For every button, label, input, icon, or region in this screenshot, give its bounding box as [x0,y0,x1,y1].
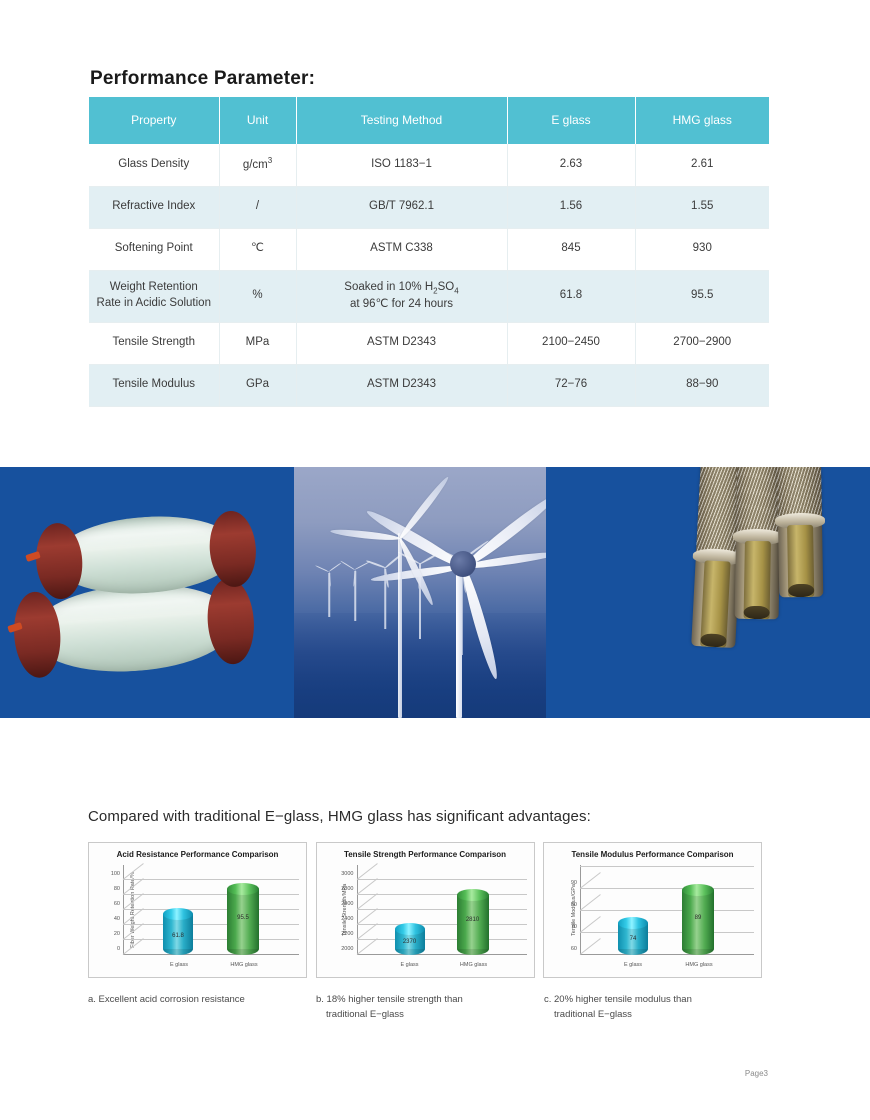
x-axis-line [357,954,527,955]
cell-method: ASTM C338 [296,228,507,270]
bar-e-glass: 74 [618,917,648,955]
background-wind-turbine [368,543,402,629]
subscript-2: 2 [433,286,437,295]
caption-line-2: traditional E−glass [316,1008,544,1023]
y-tick-label: 60 [571,946,577,952]
cell-property: Weight Retention Rate in Acidic Solution [89,270,219,322]
table-header-row: Property Unit Testing Method E glass HMG… [89,97,769,144]
grid-depth-line [123,938,144,955]
bar-e-glass: 2370 [395,923,425,955]
cell-e-glass: 72−76 [507,364,635,406]
bar-value-label: 74 [630,936,637,942]
bar-value-label: 2810 [466,917,479,923]
y-tick-label: 2400 [341,916,353,922]
gridline [123,894,299,895]
cell-method: GB/T 7962.1 [296,186,507,228]
table-row: Weight Retention Rate in Acidic Solution… [89,270,769,322]
cell-unit: g/cm3 [219,144,296,186]
grid-depth-line [356,923,377,940]
chart-acid-resistance: Acid Resistance Performance Comparison F… [88,842,307,978]
gridline [123,909,299,910]
vessel-end-cap-right [205,577,257,666]
method-line-2: at 96℃ for 24 hours [350,298,453,310]
property-line-1: Weight Retention [110,281,198,293]
grid-depth-line [123,878,144,895]
column-header-hmg-glass: HMG glass [635,97,769,144]
y-tick-label: 100 [111,871,120,877]
cell-property: Glass Density [89,144,219,186]
y-tick-label: 2000 [341,946,353,952]
cell-method: ASTM D2343 [296,364,507,406]
grid-depth-line [123,923,144,940]
cell-property: Tensile Strength [89,322,219,364]
grid-depth-line [123,893,144,910]
conductor-cable [777,467,824,597]
foreground-turbine-tower [456,559,462,718]
chart-plot-area: 60 70 80 90 74 89 E glass HMG glass [580,865,754,955]
chart-tensile-modulus: Tensile Modulus Performance Comparison T… [543,842,762,978]
gridline [123,879,299,880]
performance-parameter-table: Property Unit Testing Method E glass HMG… [89,97,769,407]
cell-hmg-glass: 88−90 [635,364,769,406]
grid-depth-line [356,908,377,925]
gridline [357,909,527,910]
bar-e-glass: 61.8 [163,908,193,955]
photo-accc-conductor-cables [632,467,870,718]
column-header-property: Property [89,97,219,144]
x-tick-label: HMG glass [460,962,487,968]
x-axis-line [580,954,754,955]
cell-method: Soaked in 10% H2SO4 at 96℃ for 24 hours [296,270,507,322]
cell-hmg-glass: 2.61 [635,144,769,186]
vessel-end-cap-right [207,509,258,588]
caption-c: c. 20% higher tensile modulus than tradi… [544,993,774,1022]
cell-e-glass: 61.8 [507,270,635,322]
bar-value-label: 89 [695,915,702,921]
photo-composite-pressure-vessels [0,467,294,718]
gridline [357,879,527,880]
grid-depth-line [356,863,377,880]
chart-plot-area: 0 20 40 60 80 100 61.8 95.5 E glass HMG … [123,865,299,955]
gridline [123,924,299,925]
y-tick-label: 2200 [341,931,353,937]
x-tick-label: E glass [624,962,642,968]
y-tick-label: 70 [571,924,577,930]
cell-hmg-glass: 2700−2900 [635,322,769,364]
property-line-2: Rate in Acidic Solution [97,297,211,309]
chart-plot-area: 2000 2200 2400 2600 2800 3000 2370 2810 … [357,865,527,955]
foreground-turbine-tower [398,533,402,718]
grid-depth-line [356,878,377,895]
cell-unit: / [219,186,296,228]
subscript-4: 4 [454,286,458,295]
cell-unit: % [219,270,296,322]
gridline [580,888,754,889]
grid-depth-line [123,908,144,925]
y-tick-label: 2800 [341,886,353,892]
chart-tensile-strength: Tensile Strength Performance Comparison … [316,842,535,978]
x-tick-label: E glass [170,962,188,968]
background-wind-turbine [316,553,342,617]
background-wind-turbine [340,549,370,621]
cell-unit: ℃ [219,228,296,270]
grid-depth-line [356,893,377,910]
column-header-e-glass: E glass [507,97,635,144]
caption-line-1: b. 18% higher tensile strength than [316,994,463,1005]
bar-value-label: 95.5 [237,915,249,921]
table-row: Glass Density g/cm3 ISO 1183−1 2.63 2.61 [89,144,769,186]
caption-a: a. Excellent acid corrosion resistance [88,993,316,1022]
y-tick-label: 90 [571,880,577,886]
gridline [357,939,527,940]
cell-hmg-glass: 1.55 [635,186,769,228]
bar-hmg-glass: 2810 [457,889,489,955]
application-photo-band [0,467,870,718]
page-title: Performance Parameter: [90,68,315,90]
x-tick-label: E glass [400,962,418,968]
turbine-hub [450,551,476,577]
x-tick-label: HMG glass [230,962,257,968]
gridline [580,910,754,911]
chart-captions: a. Excellent acid corrosion resistance b… [88,993,778,1022]
grid-depth-line [356,938,377,955]
table-row: Tensile Modulus GPa ASTM D2343 72−76 88−… [89,364,769,406]
y-tick-label: 2600 [341,901,353,907]
cell-e-glass: 1.56 [507,186,635,228]
method-line-1: Soaked in 10% H2SO4 [344,281,458,293]
column-header-testing-method: Testing Method [296,97,507,144]
cell-unit: MPa [219,322,296,364]
cell-method: ASTM D2343 [296,322,507,364]
y-tick-label: 40 [114,916,120,922]
y-tick-label: 60 [114,901,120,907]
bar-value-label: 2370 [403,939,416,945]
chart-title: Tensile Modulus Performance Comparison [544,850,761,859]
caption-b: b. 18% higher tensile strength than trad… [316,993,544,1022]
cell-hmg-glass: 95.5 [635,270,769,322]
cell-e-glass: 2100−2450 [507,322,635,364]
caption-line-1: a. Excellent acid corrosion resistance [88,994,245,1005]
comparison-charts-row: Acid Resistance Performance Comparison F… [88,842,762,978]
gridline [580,866,754,867]
cell-unit: GPa [219,364,296,406]
cell-e-glass: 845 [507,228,635,270]
unit-superscript: 3 [268,156,272,165]
photo-offshore-wind-farm [294,467,546,718]
pressure-vessel-upper [54,511,239,599]
caption-line-1: c. 20% higher tensile modulus than [544,994,692,1005]
gridline [580,932,754,933]
chart-title: Acid Resistance Performance Comparison [89,850,306,859]
y-tick-label: 80 [571,902,577,908]
conductor-cable [735,467,782,619]
gridline [123,939,299,940]
cell-property: Refractive Index [89,186,219,228]
bar-hmg-glass: 89 [682,884,714,955]
column-header-unit: Unit [219,97,296,144]
x-tick-label: HMG glass [685,962,712,968]
vessel-end-cap-left [34,522,85,601]
x-axis-line [123,954,299,955]
cell-hmg-glass: 930 [635,228,769,270]
grid-depth-line [580,916,601,933]
gridline [357,894,527,895]
vessel-end-cap-left [11,590,63,679]
chart-title: Tensile Strength Performance Comparison [317,850,534,859]
cell-method: ISO 1183−1 [296,144,507,186]
y-tick-label: 80 [114,886,120,892]
grid-depth-line [580,894,601,911]
gridline [357,924,527,925]
grid-depth-line [580,938,601,955]
y-tick-label: 3000 [341,871,353,877]
caption-line-2: traditional E−glass [544,1008,774,1023]
table-row: Tensile Strength MPa ASTM D2343 2100−245… [89,322,769,364]
cell-property: Softening Point [89,228,219,270]
table-row: Softening Point ℃ ASTM C338 845 930 [89,228,769,270]
bar-hmg-glass: 95.5 [227,883,259,955]
y-tick-label: 0 [117,946,120,952]
advantages-heading: Compared with traditional E−glass, HMG g… [88,808,591,825]
bar-value-label: 61.8 [172,933,184,939]
grid-depth-line [580,872,601,889]
grid-depth-line [123,863,144,880]
y-tick-label: 20 [114,931,120,937]
page-number: Page3 [745,1069,768,1078]
cell-e-glass: 2.63 [507,144,635,186]
unit-base: g/cm [243,159,268,171]
cell-property: Tensile Modulus [89,364,219,406]
table-row: Refractive Index / GB/T 7962.1 1.56 1.55 [89,186,769,228]
